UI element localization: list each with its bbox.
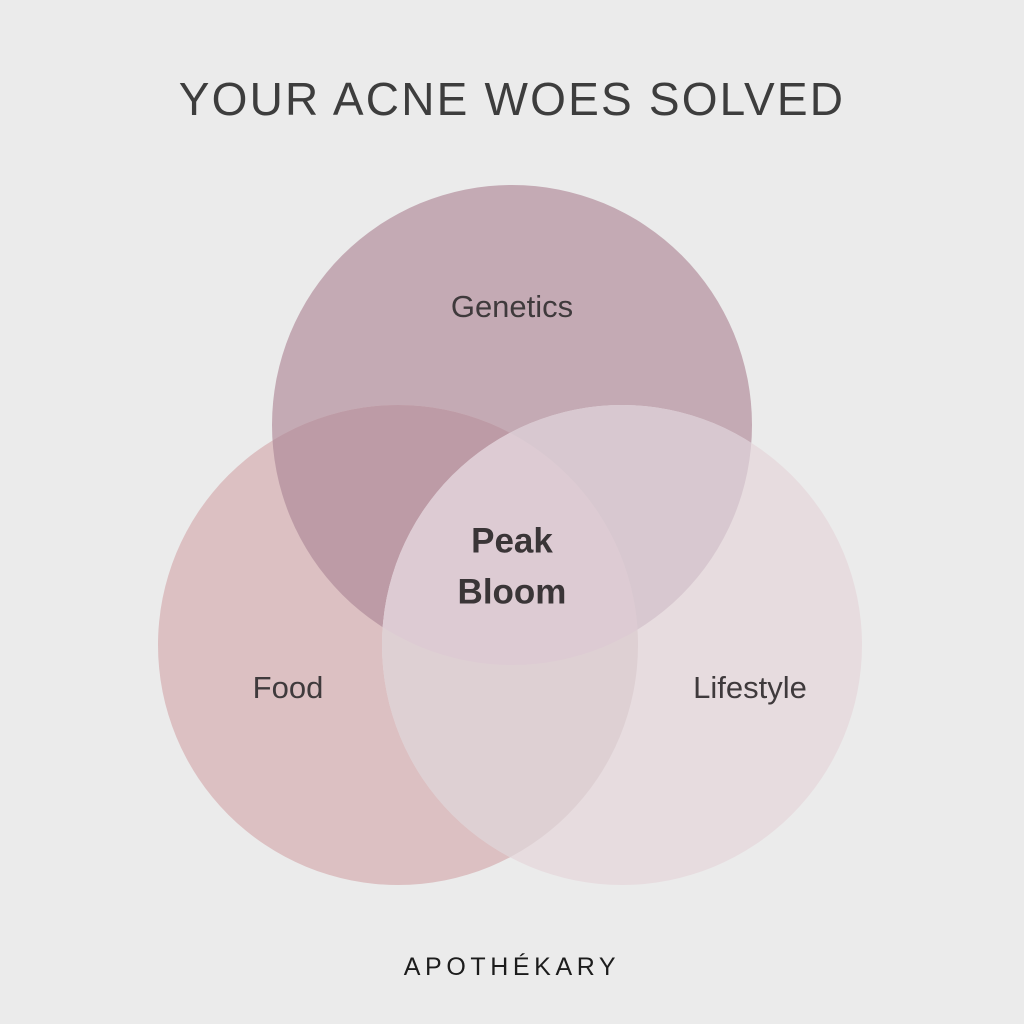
venn-label-lifestyle: Lifestyle <box>693 670 807 705</box>
venn-label-center-line2: Bloom <box>458 572 567 611</box>
venn-svg: Genetics Food Lifestyle Peak Bloom <box>0 0 1024 1024</box>
venn-diagram: Genetics Food Lifestyle Peak Bloom <box>0 0 1024 1024</box>
venn-label-genetics: Genetics <box>451 289 573 324</box>
venn-label-food: Food <box>253 670 324 705</box>
brand-wordmark: APOTHÉKARY <box>0 953 1024 982</box>
poster-canvas: YOUR ACNE WOES SOLVED <box>0 0 1024 1024</box>
venn-label-center-line1: Peak <box>471 521 553 560</box>
